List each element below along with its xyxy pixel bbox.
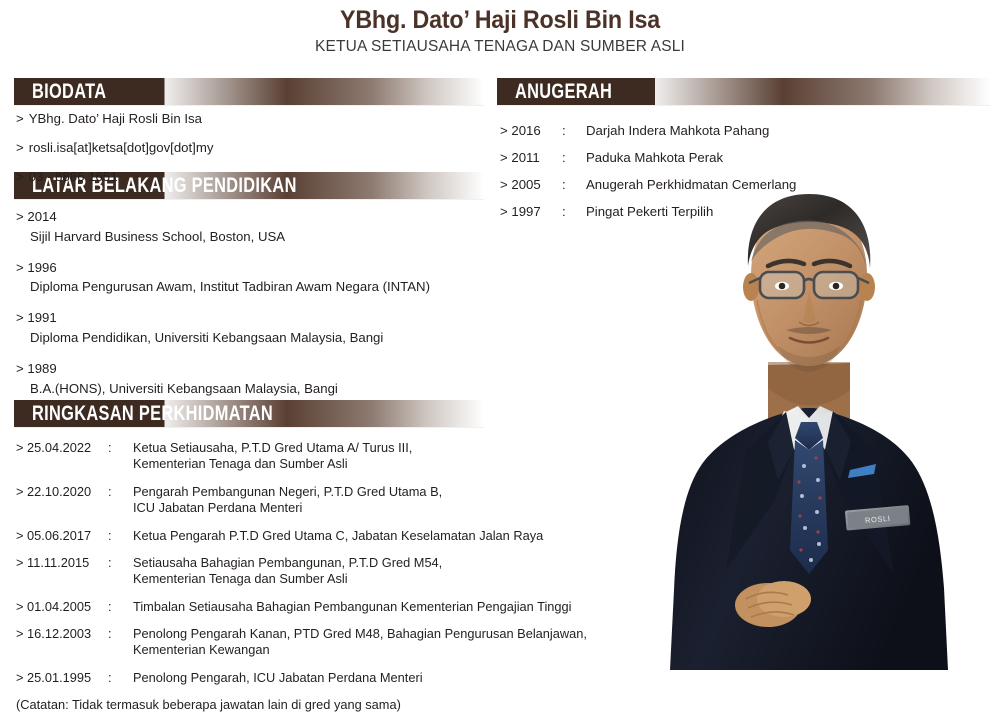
list-item: > 1997 : Pingat Pekerti Terpilih	[500, 203, 970, 220]
separator: :	[562, 149, 586, 166]
service-date-value: 05.06.2017	[27, 528, 91, 543]
service-date: > 25.04.2022	[16, 440, 108, 456]
service-desc-line2: Kementerian Tenaga dan Sumber Asli	[133, 456, 616, 472]
service-note: (Catatan: Tidak termasuk beberapa jawata…	[16, 697, 616, 712]
list-item: > 22.10.2020 : Pengarah Pembangunan Nege…	[16, 484, 616, 517]
education-list: > 2014 Sijil Harvard Business School, Bo…	[16, 208, 486, 411]
award-desc: Darjah Indera Mahkota Pahang	[586, 122, 970, 139]
bullet-marker: >	[16, 484, 23, 499]
bullet-marker: >	[16, 310, 24, 325]
separator: :	[562, 176, 586, 193]
service-desc-line1: Setiausaha Bahagian Pembangunan, P.T.D G…	[133, 555, 442, 570]
education-desc: B.A.(HONS), Universiti Kebangsaan Malays…	[30, 380, 486, 398]
education-year-value: 1996	[27, 260, 56, 275]
service-date: > 16.12.2003	[16, 626, 108, 642]
bullet-marker: >	[16, 555, 23, 570]
list-item: > 1991 Diploma Pendidikan, Universiti Ke…	[16, 309, 486, 347]
service-date-value: 01.04.2005	[27, 599, 91, 614]
service-desc: Setiausaha Bahagian Pembangunan, P.T.D G…	[133, 555, 616, 588]
award-year-value: 1997	[511, 204, 540, 219]
bullet-marker: >	[16, 169, 24, 184]
separator: :	[108, 670, 133, 686]
section-header-biodata: BIODATA	[14, 78, 484, 105]
bullet-marker: >	[16, 599, 23, 614]
award-year-value: 2005	[511, 177, 540, 192]
bullet-marker: >	[16, 140, 24, 155]
service-desc: Penolong Pengarah, ICU Jabatan Perdana M…	[133, 670, 616, 686]
list-item: > 1989 B.A.(HONS), Universiti Kebangsaan…	[16, 360, 486, 398]
list-item: > 1996 Diploma Pengurusan Awam, Institut…	[16, 259, 486, 297]
award-year: > 2011	[500, 149, 562, 166]
separator: :	[108, 626, 133, 642]
bullet-marker: >	[16, 111, 24, 126]
service-desc-line2: Kementerian Tenaga dan Sumber Asli	[133, 571, 616, 587]
page-title: YBhg. Dato’ Haji Rosli Bin Isa	[35, 6, 965, 35]
education-year: > 1989	[16, 360, 486, 378]
list-item: > 25.04.2022 : Ketua Setiausaha, P.T.D G…	[16, 440, 616, 473]
section-header-awards: ANUGERAH	[497, 78, 990, 105]
award-year-value: 2016	[511, 123, 540, 138]
list-item: > 2005 : Anugerah Perkhidmatan Cemerlang	[500, 176, 970, 193]
service-desc-line2: ICU Jabatan Perdana Menteri	[133, 500, 616, 516]
service-date-value: 25.01.1995	[27, 670, 91, 685]
service-desc: Ketua Pengarah P.T.D Gred Utama C, Jabat…	[133, 528, 616, 544]
biodata-email-value: rosli.isa[at]ketsa[dot]gov[dot]my	[29, 140, 214, 155]
separator: :	[108, 555, 133, 571]
list-item: >rosli.isa[at]ketsa[dot]gov[dot]my	[16, 139, 486, 157]
separator: :	[108, 440, 133, 456]
list-item: > 11.11.2015 : Setiausaha Bahagian Pemba…	[16, 555, 616, 588]
award-year: > 2005	[500, 176, 562, 193]
education-year-value: 1989	[27, 361, 56, 376]
separator: :	[108, 484, 133, 500]
education-year: > 1996	[16, 259, 486, 277]
service-desc: Penolong Pengarah Kanan, PTD Gred M48, B…	[133, 626, 616, 659]
service-desc: Ketua Setiausaha, P.T.D Gred Utama A/ Tu…	[133, 440, 616, 473]
list-item: > 01.04.2005 : Timbalan Setiausaha Bahag…	[16, 599, 616, 615]
page-header: YBhg. Dato’ Haji Rosli Bin Isa KETUA SET…	[0, 6, 1000, 56]
list-item: > 05.06.2017 : Ketua Pengarah P.T.D Gred…	[16, 528, 616, 544]
service-desc-line1: Ketua Setiausaha, P.T.D Gred Utama A/ Tu…	[133, 440, 412, 455]
service-desc-line1: Ketua Pengarah P.T.D Gred Utama C, Jabat…	[133, 528, 543, 543]
service-desc: Pengarah Pembangunan Negeri, P.T.D Gred …	[133, 484, 616, 517]
bullet-marker: >	[500, 204, 508, 219]
list-item: > 2011 : Paduka Mahkota Perak	[500, 149, 970, 166]
service-date: > 05.06.2017	[16, 528, 108, 544]
bullet-marker: >	[16, 626, 23, 641]
service-desc-line1: Penolong Pengarah, ICU Jabatan Perdana M…	[133, 670, 423, 685]
biodata-name-value: YBhg. Dato’ Haji Rosli Bin Isa	[29, 111, 202, 126]
bullet-marker: >	[16, 670, 23, 685]
service-date-value: 11.11.2015	[27, 555, 89, 570]
list-item: >YBhg. Dato’ Haji Rosli Bin Isa	[16, 110, 486, 128]
education-year-value: 1991	[27, 310, 56, 325]
bullet-marker: >	[16, 528, 23, 543]
award-year-value: 2011	[511, 150, 539, 165]
education-desc: Sijil Harvard Business School, Boston, U…	[30, 228, 486, 246]
education-desc: Diploma Pendidikan, Universiti Kebangsaa…	[30, 329, 486, 347]
education-year: > 2014	[16, 208, 486, 226]
profile-card-page: YBhg. Dato’ Haji Rosli Bin Isa KETUA SET…	[0, 0, 1000, 719]
service-desc: Timbalan Setiausaha Bahagian Pembangunan…	[133, 599, 616, 615]
award-desc: Pingat Pekerti Terpilih	[586, 203, 970, 220]
bullet-marker: >	[500, 123, 508, 138]
service-date: > 22.10.2020	[16, 484, 108, 500]
service-desc-line2: Kementerian Kewangan	[133, 642, 616, 658]
bullet-marker: >	[500, 177, 508, 192]
list-item: > 2016 : Darjah Indera Mahkota Pahang	[500, 122, 970, 139]
service-date-value: 16.12.2003	[27, 626, 91, 641]
separator: :	[108, 528, 133, 544]
service-date: > 25.01.1995	[16, 670, 108, 686]
separator: :	[562, 203, 586, 220]
bullet-marker: >	[16, 260, 24, 275]
list-item: >03 - 8886 1651	[16, 168, 486, 186]
education-year: > 1991	[16, 309, 486, 327]
bullet-marker: >	[500, 150, 508, 165]
education-year-value: 2014	[27, 209, 56, 224]
education-desc: Diploma Pengurusan Awam, Institut Tadbir…	[30, 278, 486, 296]
biodata-list: >YBhg. Dato’ Haji Rosli Bin Isa >rosli.i…	[16, 110, 486, 196]
service-list: > 25.04.2022 : Ketua Setiausaha, P.T.D G…	[16, 440, 616, 712]
bullet-marker: >	[16, 209, 24, 224]
bullet-marker: >	[16, 440, 23, 455]
awards-list: > 2016 : Darjah Indera Mahkota Pahang > …	[500, 122, 970, 231]
list-item: > 16.12.2003 : Penolong Pengarah Kanan, …	[16, 626, 616, 659]
service-date-value: 22.10.2020	[27, 484, 91, 499]
biodata-phone-value: 03 - 8886 1651	[29, 169, 118, 184]
list-item: > 25.01.1995 : Penolong Pengarah, ICU Ja…	[16, 670, 616, 686]
service-date: > 11.11.2015	[16, 555, 108, 571]
service-desc-line1: Pengarah Pembangunan Negeri, P.T.D Gred …	[133, 484, 442, 499]
service-date: > 01.04.2005	[16, 599, 108, 615]
service-desc-line1: Timbalan Setiausaha Bahagian Pembangunan…	[133, 599, 571, 614]
bullet-marker: >	[16, 361, 24, 376]
award-desc: Paduka Mahkota Perak	[586, 149, 970, 166]
separator: :	[562, 122, 586, 139]
list-item: > 2014 Sijil Harvard Business School, Bo…	[16, 208, 486, 246]
service-date-value: 25.04.2022	[27, 440, 91, 455]
section-title-biodata: BIODATA	[32, 80, 106, 104]
award-year: > 1997	[500, 203, 562, 220]
separator: :	[108, 599, 133, 615]
page-subtitle: KETUA SETIAUSAHA TENAGA DAN SUMBER ASLI	[0, 38, 1000, 57]
service-desc-line1: Penolong Pengarah Kanan, PTD Gred M48, B…	[133, 626, 587, 641]
award-year: > 2016	[500, 122, 562, 139]
award-desc: Anugerah Perkhidmatan Cemerlang	[586, 176, 970, 193]
section-title-awards: ANUGERAH	[515, 80, 612, 104]
